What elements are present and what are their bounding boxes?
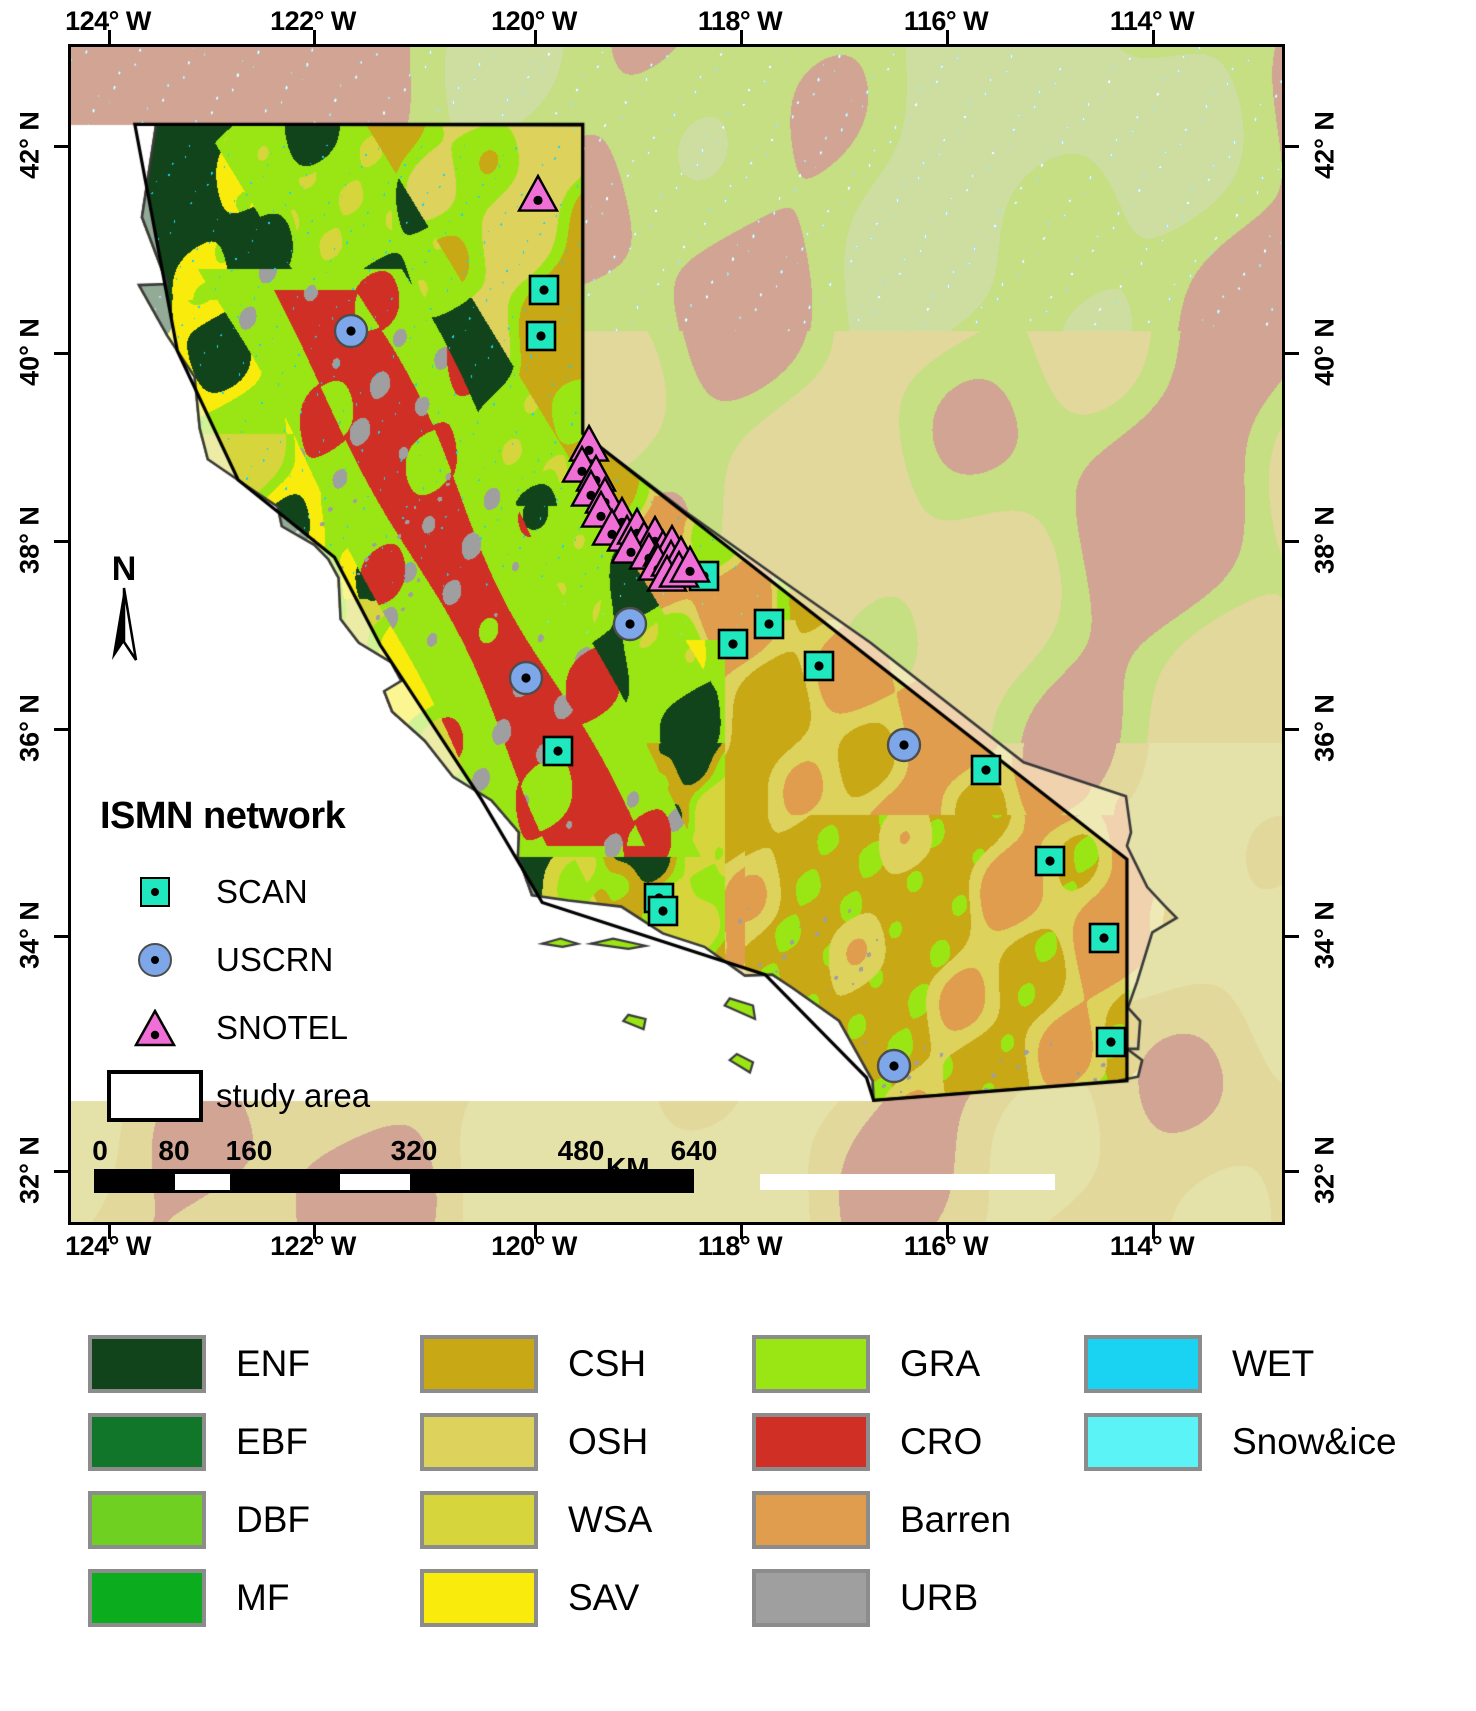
axis-tick — [54, 935, 68, 938]
landcover-label: CSH — [538, 1343, 646, 1385]
station-marker-uscrn[interactable] — [888, 729, 920, 761]
landcover-legend-item: SAV — [420, 1559, 752, 1637]
landcover-legend-item: CSH — [420, 1325, 752, 1403]
station-marker-uscrn[interactable] — [510, 662, 542, 694]
lat-label: 32° N — [1310, 1136, 1341, 1204]
station-marker-scan[interactable] — [527, 322, 555, 350]
legend-item-study-area: study area — [100, 1068, 460, 1124]
axis-tick — [534, 30, 537, 44]
landcover-color-swatch — [752, 1491, 870, 1549]
landcover-legend-item: CRO — [752, 1403, 1084, 1481]
landcover-color-swatch — [420, 1335, 538, 1393]
station-marker-scan[interactable] — [972, 756, 1000, 784]
station-marker-snotel[interactable] — [519, 176, 557, 211]
landcover-color-swatch — [1084, 1335, 1202, 1393]
station-marker-scan[interactable] — [649, 897, 677, 925]
lat-label: 36° N — [1310, 694, 1341, 762]
landcover-label: CRO — [870, 1421, 982, 1463]
landcover-legend-item: URB — [752, 1559, 1084, 1637]
north-arrow: N — [92, 552, 156, 662]
landcover-label: Snow&ice — [1202, 1421, 1397, 1463]
station-marker-uscrn[interactable] — [335, 315, 367, 347]
landcover-label: WSA — [538, 1499, 652, 1541]
axis-tick — [1285, 540, 1299, 543]
scale-tick-label: 160 — [226, 1135, 273, 1167]
axis-tick — [1285, 728, 1299, 731]
axis-tick — [54, 540, 68, 543]
legend-item-snotel: SNOTEL — [100, 1000, 460, 1056]
landcover-legend-item: EBF — [88, 1403, 420, 1481]
scale-bar-unit: KM — [606, 1152, 650, 1184]
scale-tick-label: 640 — [671, 1135, 718, 1167]
landcover-legend-item: Snow&ice — [1084, 1403, 1416, 1481]
landcover-legend-column: GRACROBarrenURB — [752, 1325, 1084, 1637]
station-marker-scan[interactable] — [544, 737, 572, 765]
landcover-legend-item: WSA — [420, 1481, 752, 1559]
landcover-color-swatch — [752, 1413, 870, 1471]
landcover-color-swatch — [752, 1335, 870, 1393]
axis-tick — [108, 30, 111, 44]
study-area-swatch-icon — [100, 1070, 210, 1122]
landcover-label: URB — [870, 1577, 978, 1619]
scale-tick-label: 320 — [391, 1135, 438, 1167]
legend-label-scan: SCAN — [210, 873, 308, 911]
landcover-label: DBF — [206, 1499, 310, 1541]
axis-tick — [54, 728, 68, 731]
landcover-legend-item: DBF — [88, 1481, 420, 1559]
station-marker-scan[interactable] — [805, 652, 833, 680]
scale-tick-label: 0 — [92, 1135, 108, 1167]
scale-bar-ticks: 080160320480640 — [94, 1135, 694, 1169]
landcover-legend-column: ENFEBFDBFMF — [88, 1325, 420, 1637]
landcover-color-swatch — [752, 1569, 870, 1627]
landcover-legend-item: OSH — [420, 1403, 752, 1481]
landcover-label: EBF — [206, 1421, 308, 1463]
axis-tick — [740, 1225, 743, 1239]
axis-tick — [946, 1225, 949, 1239]
axis-tick — [1285, 1170, 1299, 1173]
landcover-color-swatch — [88, 1335, 206, 1393]
scale-bar-body — [94, 1169, 694, 1193]
landcover-color-swatch — [88, 1413, 206, 1471]
landcover-label: ENF — [206, 1343, 310, 1385]
scan-marker-icon — [100, 877, 210, 907]
landcover-label: WET — [1202, 1343, 1314, 1385]
axis-tick — [313, 30, 316, 44]
station-marker-scan[interactable] — [1097, 1028, 1125, 1056]
north-arrow-icon — [92, 586, 156, 662]
landcover-color-swatch — [88, 1491, 206, 1549]
axis-tick — [946, 30, 949, 44]
station-marker-scan[interactable] — [1090, 924, 1118, 952]
lat-label: 42° N — [15, 111, 46, 179]
lat-label: 40° N — [15, 318, 46, 386]
landcover-legend-item: Barren — [752, 1481, 1084, 1559]
landcover-label: GRA — [870, 1343, 980, 1385]
legend-label-uscrn: USCRN — [210, 941, 333, 979]
axis-tick — [1152, 30, 1155, 44]
axis-tick — [1285, 145, 1299, 148]
landcover-label: MF — [206, 1577, 289, 1619]
landcover-legend-item: GRA — [752, 1325, 1084, 1403]
scale-tick-label: 80 — [158, 1135, 189, 1167]
lat-label: 40° N — [1310, 318, 1341, 386]
axis-tick — [740, 30, 743, 44]
landcover-legend-column: WETSnow&ice — [1084, 1325, 1416, 1637]
lat-label: 34° N — [1310, 901, 1341, 969]
station-marker-scan[interactable] — [1036, 847, 1064, 875]
landcover-color-swatch — [420, 1491, 538, 1549]
lat-label: 36° N — [15, 694, 46, 762]
axis-tick — [54, 145, 68, 148]
station-marker-scan[interactable] — [530, 276, 558, 304]
station-marker-scan[interactable] — [719, 630, 747, 658]
legend-item-uscrn: USCRN — [100, 932, 460, 988]
uscrn-marker-icon — [100, 943, 210, 977]
legend-item-scan: SCAN — [100, 864, 460, 920]
axis-tick — [1285, 935, 1299, 938]
axis-tick — [1152, 1225, 1155, 1239]
scale-tick-label: 480 — [558, 1135, 605, 1167]
landcover-legend-column: CSHOSHWSASAV — [420, 1325, 752, 1637]
lat-label: 32° N — [15, 1136, 46, 1204]
figure-root: 124° W124° W122° W122° W120° W120° W118°… — [0, 0, 1476, 1711]
axis-tick — [54, 352, 68, 355]
lat-label: 38° N — [15, 506, 46, 574]
snotel-marker-icon — [100, 1009, 210, 1047]
axis-tick — [108, 1225, 111, 1239]
axis-tick — [54, 1170, 68, 1173]
landcover-color-swatch — [88, 1569, 206, 1627]
landcover-legend-item: WET — [1084, 1325, 1416, 1403]
landcover-legend: ENFEBFDBFMFCSHOSHWSASAVGRACROBarrenURBWE… — [88, 1325, 1418, 1637]
landcover-color-swatch — [420, 1569, 538, 1627]
north-arrow-label: N — [92, 552, 156, 586]
station-marker-uscrn[interactable] — [878, 1050, 910, 1082]
landcover-legend-item: MF — [88, 1559, 420, 1637]
axis-tick — [313, 1225, 316, 1239]
station-marker-scan[interactable] — [755, 610, 783, 638]
axis-tick — [1285, 352, 1299, 355]
ismn-legend: ISMN network SCAN USCRN SNOTEL — [100, 795, 460, 1136]
landcover-color-swatch — [420, 1413, 538, 1471]
station-marker-uscrn[interactable] — [614, 608, 646, 640]
landcover-legend-item: ENF — [88, 1325, 420, 1403]
landcover-label: SAV — [538, 1577, 639, 1619]
ismn-legend-title: ISMN network — [100, 795, 460, 838]
legend-label-snotel: SNOTEL — [210, 1009, 348, 1047]
landcover-label: Barren — [870, 1499, 1011, 1541]
axis-tick — [534, 1225, 537, 1239]
landcover-label: OSH — [538, 1421, 648, 1463]
legend-label-study-area: study area — [210, 1077, 370, 1115]
lat-label: 42° N — [1310, 111, 1341, 179]
station-marker-snotel[interactable] — [570, 426, 608, 461]
landcover-color-swatch — [1084, 1413, 1202, 1471]
lat-label: 38° N — [1310, 506, 1341, 574]
scale-bar: 080160320480640 — [94, 1135, 694, 1193]
lat-label: 34° N — [15, 901, 46, 969]
